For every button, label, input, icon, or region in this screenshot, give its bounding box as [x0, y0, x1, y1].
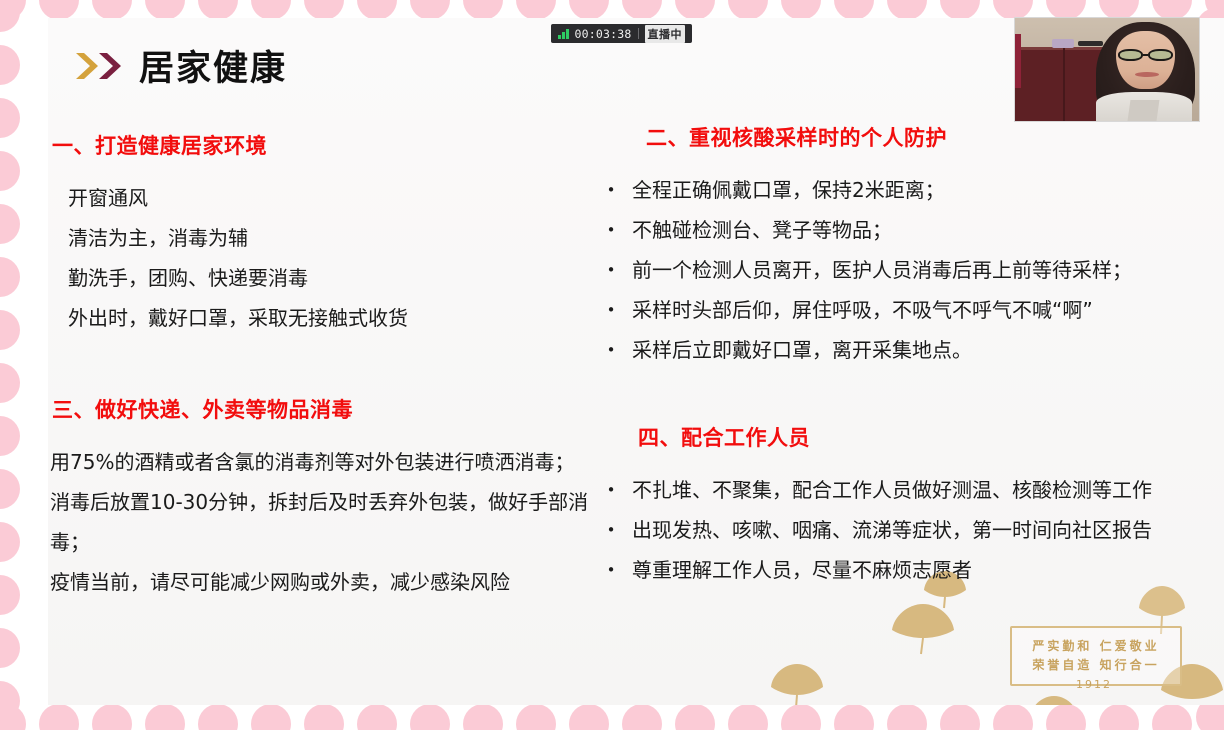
decorative-dot: [887, 704, 927, 730]
webcam-video-tile[interactable]: [1014, 17, 1200, 122]
decorative-dot: [675, 0, 715, 20]
decorative-dot: [0, 151, 20, 191]
decorative-dot: [251, 0, 291, 20]
decorative-dot: [410, 704, 450, 730]
bullet-marker: •: [600, 550, 622, 590]
decorative-dot: [993, 704, 1033, 730]
section-2-heading: 二、重视核酸采样时的个人防护: [646, 122, 1224, 152]
decorative-dot: [781, 0, 821, 20]
list-item: •消毒后放置10-30分钟，拆封后及时丢弃外包装，做好手部消毒；: [48, 482, 600, 562]
decorative-dot: [569, 704, 609, 730]
decorative-dot: [0, 704, 26, 730]
decorative-dot: [1046, 704, 1086, 730]
decorative-dot: [0, 45, 20, 85]
list-item: •出现发热、咳嗽、咽痛、流涕等症状，第一时间向社区报告: [600, 510, 1224, 550]
decorative-dot: [357, 704, 397, 730]
decorative-dot: [0, 575, 20, 615]
decorative-dot: [940, 704, 980, 730]
decorative-dot: [145, 0, 185, 20]
section-1-bullet-list: •开窗通风 •清洁为主，消毒为辅 •勤洗手，团购、快递要消毒 •外出时，戴好口罩…: [48, 178, 620, 338]
list-item: •全程正确佩戴口罩，保持2米距离；: [600, 170, 1224, 210]
decorative-dot: [834, 0, 874, 20]
list-item-text: 消毒后放置10-30分钟，拆封后及时丢弃外包装，做好手部消毒；: [50, 482, 590, 562]
decorative-dot: [1152, 704, 1192, 730]
decorative-dot: [463, 704, 503, 730]
signal-bars-icon: [558, 29, 569, 39]
stream-timer: 00:03:38: [575, 27, 632, 41]
decorative-dot: [728, 0, 768, 20]
motto-year-text: 1912: [1076, 678, 1112, 691]
section-1-heading: 一、打造健康居家环境: [52, 130, 620, 160]
decorative-dot: [0, 257, 20, 297]
bullet-marker: •: [600, 470, 622, 510]
motto-line-2: 荣誉自造 知行合一: [1032, 656, 1159, 675]
decorative-dot: [728, 704, 768, 730]
video-wall-accent: [1015, 34, 1021, 88]
section-2-bullet-list: •全程正确佩戴口罩，保持2米距离； •不触碰检测台、凳子等物品； •前一个检测人…: [600, 170, 1224, 370]
presentation-screen: 严实勤和 仁爱敬业 荣誉自造 知行合一 1912 居家健康 一、打造健康居家环境…: [0, 0, 1224, 730]
decorative-dot: [1205, 704, 1224, 730]
eyeglasses-icon: [1118, 49, 1173, 61]
decorative-dot: [0, 98, 20, 138]
decorative-dot: [516, 704, 556, 730]
video-object-dark: [1078, 41, 1104, 46]
list-item-text: 勤洗手，团购、快递要消毒: [68, 258, 308, 298]
speaker-mouth: [1135, 72, 1159, 77]
decorative-dot: [0, 522, 20, 562]
list-item: •尊重理解工作人员，尽量不麻烦志愿者: [600, 550, 1224, 590]
page-title: 居家健康: [139, 40, 287, 91]
list-item-text: 用75%的酒精或者含氯的消毒剂等对外包装进行喷洒消毒；: [50, 442, 590, 482]
bullet-marker: •: [600, 290, 622, 330]
decorative-dot: [887, 0, 927, 20]
decorative-dot: [39, 704, 79, 730]
list-item-text: 疫情当前，请尽可能减少网购或外卖，减少感染风险: [50, 562, 590, 602]
decorative-dot: [357, 0, 397, 20]
list-item-text: 采样时头部后仰，屏住呼吸，不吸气不呼气不喊“啊”: [632, 290, 1093, 330]
section-3-heading: 三、做好快递、外卖等物品消毒: [52, 394, 620, 424]
list-item: •开窗通风: [48, 178, 620, 218]
list-item-text: 开窗通风: [68, 178, 148, 218]
decorative-dot: [0, 0, 26, 20]
section-4-heading: 四、配合工作人员: [638, 422, 1224, 452]
list-item-text: 外出时，戴好口罩，采取无接触式收货: [68, 298, 408, 338]
decorative-dot: [569, 0, 609, 20]
decorative-dot: [251, 704, 291, 730]
decorative-dot: [0, 0, 20, 32]
decorative-dot: [834, 704, 874, 730]
bullet-marker: •: [600, 170, 622, 210]
column-left: 一、打造健康居家环境 •开窗通风 •清洁为主，消毒为辅 •勤洗手，团购、快递要消…: [48, 130, 620, 602]
video-object-box: [1052, 39, 1074, 48]
decorative-dot: [781, 704, 821, 730]
decorative-dot: [145, 704, 185, 730]
decorative-dot: [304, 0, 344, 20]
list-item-text: 清洁为主，消毒为辅: [68, 218, 248, 258]
decorative-dot: [675, 704, 715, 730]
decorative-dot: [0, 681, 20, 721]
list-item-text: 尊重理解工作人员，尽量不麻烦志愿者: [632, 550, 972, 590]
list-item-text: 出现发热、咳嗽、咽痛、流涕等症状，第一时间向社区报告: [632, 510, 1152, 550]
list-item-text: 前一个检测人员离开，医护人员消毒后再上前等待采样；: [632, 250, 1132, 290]
decorative-dot: [0, 628, 20, 668]
list-item: •用75%的酒精或者含氯的消毒剂等对外包装进行喷洒消毒；: [48, 442, 600, 482]
list-item: •外出时，戴好口罩，采取无接触式收货: [48, 298, 620, 338]
decorative-dot: [940, 0, 980, 20]
decorative-dot: [198, 704, 238, 730]
decorative-dot: [516, 0, 556, 20]
decorative-dot: [0, 363, 20, 403]
decorative-dot: [39, 0, 79, 20]
bullet-marker: •: [600, 510, 622, 550]
decorative-dot: [622, 704, 662, 730]
list-item: •疫情当前，请尽可能减少网购或外卖，减少感染风险: [48, 562, 600, 602]
decorative-dot: [0, 204, 20, 244]
decorative-dot: [1205, 0, 1224, 20]
decorative-dot: [304, 704, 344, 730]
motto-plaque: 严实勤和 仁爱敬业 荣誉自造 知行合一: [1010, 626, 1182, 686]
decorative-dot: [198, 0, 238, 20]
list-item: •清洁为主，消毒为辅: [48, 218, 620, 258]
slide-title-row: 居家健康: [48, 40, 287, 91]
column-right: 二、重视核酸采样时的个人防护 •全程正确佩戴口罩，保持2米距离； •不触碰检测台…: [600, 122, 1224, 590]
decorative-dot: [92, 0, 132, 20]
section-3-bullet-list: •用75%的酒精或者含氯的消毒剂等对外包装进行喷洒消毒； •消毒后放置10-30…: [48, 442, 600, 602]
list-item-text: 采样后立即戴好口罩，离开采集地点。: [632, 330, 972, 370]
motto-line-1: 严实勤和 仁爱敬业: [1032, 637, 1159, 656]
live-status-badge[interactable]: 00:03:38 直播中: [551, 24, 692, 43]
list-item: •不触碰检测台、凳子等物品；: [600, 210, 1224, 250]
list-item: •勤洗手，团购、快递要消毒: [48, 258, 620, 298]
bullet-marker: •: [600, 250, 622, 290]
decorative-dot: [0, 469, 20, 509]
video-cabinet-seam: [1063, 47, 1065, 121]
decorative-dot: [0, 310, 20, 350]
decorative-dot: [410, 0, 450, 20]
decorative-dot: [622, 0, 662, 20]
badge-divider: [638, 28, 639, 39]
list-item: •采样后立即戴好口罩，离开采集地点。: [600, 330, 1224, 370]
list-item: •采样时头部后仰，屏住呼吸，不吸气不呼气不喊“啊”: [600, 290, 1224, 330]
list-item-text: 不触碰检测台、凳子等物品；: [632, 210, 892, 250]
speaker-collar: [1128, 100, 1160, 121]
list-item-text: 不扎堆、不聚集，配合工作人员做好测温、核酸检测等工作: [632, 470, 1152, 510]
decorative-dot: [1099, 704, 1139, 730]
double-chevron-icon: [74, 51, 123, 81]
bullet-marker: •: [600, 330, 622, 370]
section-4-bullet-list: •不扎堆、不聚集，配合工作人员做好测温、核酸检测等工作 •出现发热、咳嗽、咽痛、…: [600, 470, 1224, 590]
decorative-dot: [463, 0, 503, 20]
list-item: •不扎堆、不聚集，配合工作人员做好测温、核酸检测等工作: [600, 470, 1224, 510]
live-status-label: 直播中: [645, 25, 686, 43]
decorative-dot: [0, 416, 20, 456]
motto-year: 1912: [1010, 678, 1178, 691]
bullet-marker: •: [600, 210, 622, 250]
decorative-dot: [92, 704, 132, 730]
list-item-text: 全程正确佩戴口罩，保持2米距离；: [632, 170, 945, 210]
list-item: •前一个检测人员离开，医护人员消毒后再上前等待采样；: [600, 250, 1224, 290]
